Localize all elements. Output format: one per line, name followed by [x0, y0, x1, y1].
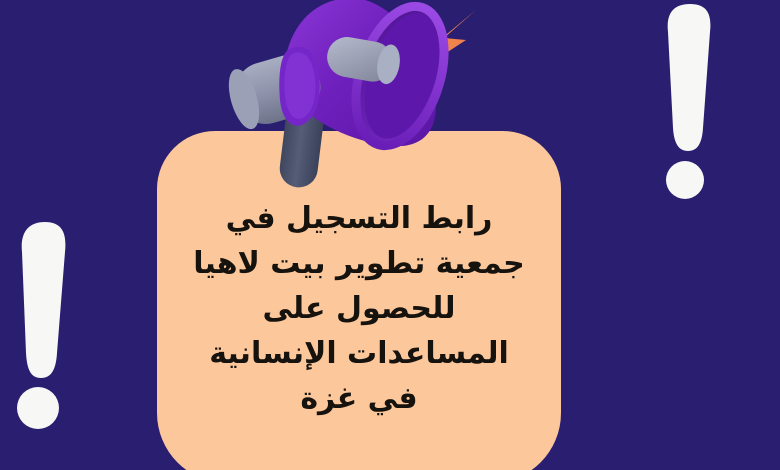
exclamation-mark-icon [8, 220, 78, 430]
headline-text: رابط التسجيل في جمعية تطوير بيت لاهيا لل… [157, 196, 561, 421]
lightning-bolt-icon [404, 8, 484, 78]
exclamation-stroke [655, 2, 725, 202]
headline-line: المساعدات الإنسانية [157, 331, 561, 376]
headline-line: جمعية تطوير بيت لاهيا [157, 241, 561, 286]
headline-line: للحصول على [157, 286, 561, 331]
exclamation-mark-icon [655, 2, 725, 202]
exclamation-stroke [8, 220, 78, 430]
headline-line: رابط التسجيل في [157, 196, 561, 241]
announcement-poster: رابط التسجيل في جمعية تطوير بيت لاهيا لل… [0, 0, 780, 470]
headline-line: في غزة [157, 376, 561, 421]
